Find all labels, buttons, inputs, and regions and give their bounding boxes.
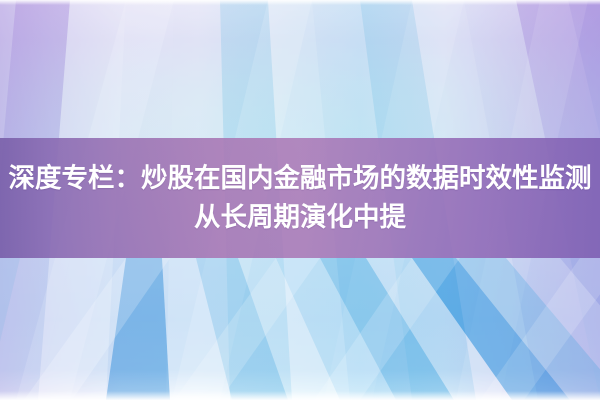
top-highlight-line [0, 0, 600, 5]
title-band: 深度专栏：炒股在国内金融市场的数据时效性监测 从长周期演化中提 [0, 138, 600, 258]
title-block: 深度专栏：炒股在国内金融市场的数据时效性监测 从长周期演化中提 [0, 159, 600, 237]
promo-banner: 深度专栏：炒股在国内金融市场的数据时效性监测 从长周期演化中提 [0, 0, 600, 400]
watermark-text [277, 382, 323, 394]
title-line-1: 深度专栏：炒股在国内金融市场的数据时效性监测 [0, 159, 600, 198]
title-line-2: 从长周期演化中提 [0, 198, 600, 237]
